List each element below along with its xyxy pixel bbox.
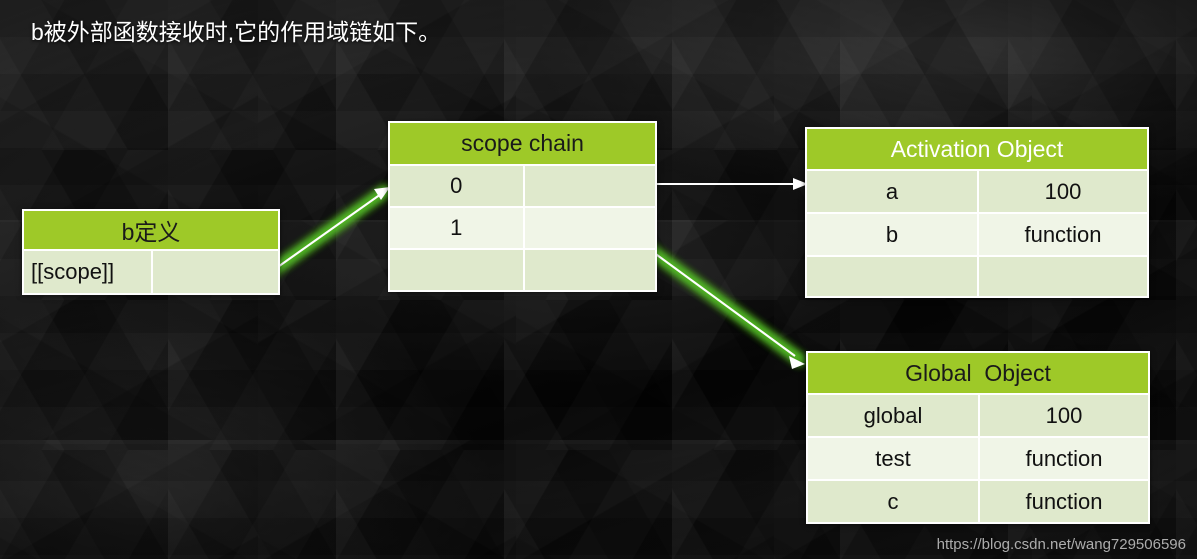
table-b-definition: b定义 [[scope]] [22, 209, 280, 295]
table-activation-object-header: Activation Object [807, 129, 1147, 169]
table-row: global 100 [808, 395, 1148, 436]
cell-value [525, 166, 656, 206]
cell-value [979, 257, 1147, 296]
cell-key: [[scope]] [24, 251, 151, 293]
cell-value: function [980, 481, 1148, 522]
cell-value [525, 250, 656, 290]
slide-title: b被外部函数接收时,它的作用域链如下。 [31, 13, 441, 47]
cell-value: 100 [980, 395, 1148, 436]
cell-value: function [980, 438, 1148, 479]
cell-key [807, 257, 977, 296]
table-row [390, 250, 655, 290]
table-row: 1 [390, 208, 655, 248]
cell-value: 100 [979, 171, 1147, 212]
cell-value [525, 208, 656, 248]
table-b-definition-header: b定义 [24, 211, 278, 249]
cell-value: function [979, 214, 1147, 255]
table-row: a 100 [807, 171, 1147, 212]
cell-key [390, 250, 523, 290]
table-row: b function [807, 214, 1147, 255]
table-scope-chain: scope chain 0 1 [388, 121, 657, 292]
cell-key: a [807, 171, 977, 212]
cell-key: 0 [390, 166, 523, 206]
table-global-object-header: Global Object [808, 353, 1148, 393]
table-row: 0 [390, 166, 655, 206]
cell-key: test [808, 438, 978, 479]
table-row [807, 257, 1147, 296]
slide-canvas: b被外部函数接收时,它的作用域链如下。 [0, 0, 1197, 559]
table-global-object: Global Object global 100 test function c… [806, 351, 1150, 524]
cell-value [153, 251, 278, 293]
table-row: c function [808, 481, 1148, 522]
table-scope-chain-header: scope chain [390, 123, 655, 164]
cell-key: global [808, 395, 978, 436]
cell-key: b [807, 214, 977, 255]
watermark-url: https://blog.csdn.net/wang729506596 [937, 536, 1186, 553]
table-row: [[scope]] [24, 251, 278, 293]
table-activation-object: Activation Object a 100 b function [805, 127, 1149, 298]
cell-key: 1 [390, 208, 523, 248]
table-row: test function [808, 438, 1148, 479]
cell-key: c [808, 481, 978, 522]
